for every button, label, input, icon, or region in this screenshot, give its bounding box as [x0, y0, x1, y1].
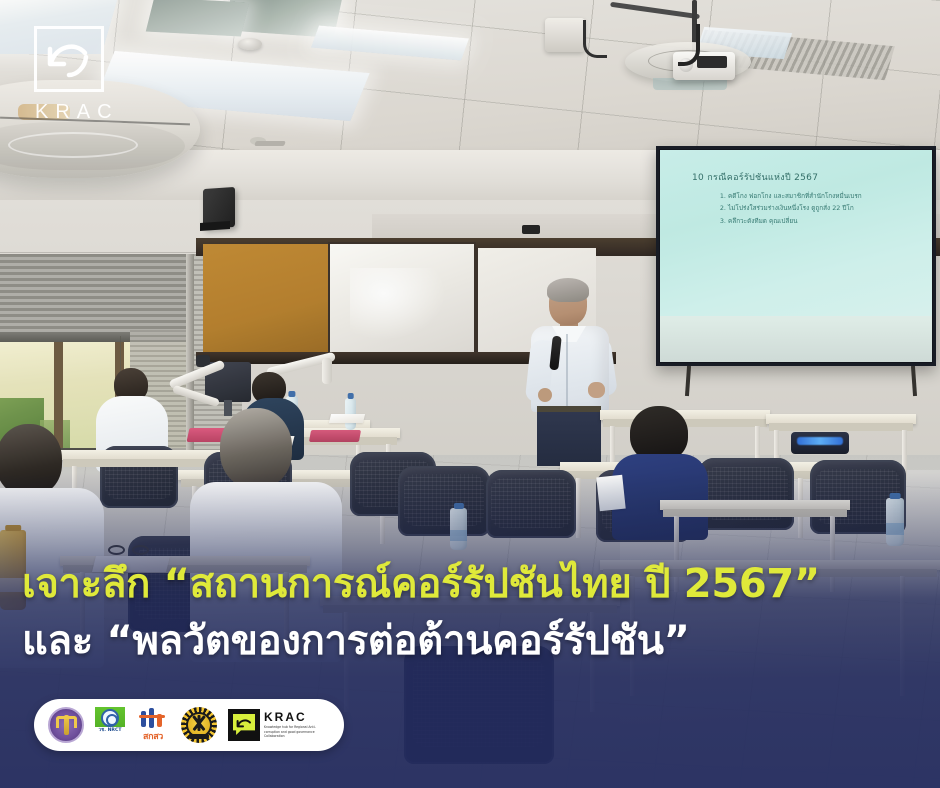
slide-bullet: ไม่โปร่งใสร่วมร่างเงินหนึ่งโรง ดูถูกสั่ง…: [728, 202, 918, 214]
slide-bullet: คดีโกง ฟอกโกง และสมาชิกที่สำนักโกงหมื่นเ…: [728, 190, 918, 202]
chair-rim: [698, 458, 794, 530]
title-line-2: และ “พลวัตของการต่อต้านคอร์รัปชัน”: [22, 613, 918, 670]
bottle-label: [450, 530, 467, 541]
partner-logo-krac: KRAC Knowledge hub for Regional Anti-cor…: [228, 709, 326, 741]
projector-cable: [583, 20, 607, 58]
krac-wordmark: KRAC: [264, 711, 326, 723]
papers: [596, 475, 625, 512]
event-cover: 10 กรณีคอร์รัปชันแห่งปี 2567 คดีโกง ฟอกโ…: [0, 0, 940, 788]
desk-leg: [576, 478, 581, 538]
gear-base: [189, 734, 209, 739]
ceiling-cylinder-fixture: [545, 18, 585, 52]
projector-cable: [678, 24, 700, 66]
water-bottle: [450, 508, 467, 550]
ceiling-light-panel: [146, 0, 249, 36]
blue-electronic-device: [791, 432, 849, 454]
amber-wall-panel: [203, 244, 328, 354]
bottle-cap: [347, 393, 354, 399]
water-bottle: [886, 498, 904, 546]
chair: [486, 470, 576, 538]
krac-text-block: KRAC Knowledge hub for Regional Anti-cor…: [264, 711, 326, 739]
title-line-1: เจาะลึก “สถานการณ์คอร์รัปชันไทย ปี 2567”: [22, 556, 918, 613]
articulating-arm: [322, 358, 332, 384]
krac-logo-icon: KRAC Knowledge hub for Regional Anti-cor…: [228, 709, 326, 741]
bottle-label: [886, 523, 904, 535]
person-torso: [612, 454, 708, 540]
pink-desk-pad: [309, 430, 361, 442]
tsri-bar: [141, 711, 146, 727]
partner-logo-gear: [181, 707, 217, 743]
presenter-hand: [538, 388, 552, 402]
partner-logo-purple-seal: [48, 707, 84, 743]
partner-logo-tsri: สกสว: [136, 708, 170, 743]
smoke-detector-icon: [238, 38, 262, 50]
chair-rim: [486, 470, 576, 538]
bottle-cap: [288, 391, 295, 397]
slide-heading: 10 กรณีคอร์รัปชันแห่งปี 2567: [692, 170, 902, 184]
ceiling-fan-ring: [8, 132, 138, 158]
desk-apron: [663, 509, 847, 517]
chair: [698, 458, 794, 530]
green-logo-label: วช. NRCT: [99, 728, 122, 733]
presenter-legs: [537, 408, 601, 466]
ceiling-strip: [254, 141, 286, 146]
bottle-cap: [5, 525, 21, 531]
krac-watermark: KRAC: [34, 26, 134, 124]
green-institute-logo-icon: วช. NRCT: [95, 707, 125, 743]
chair: [398, 466, 490, 536]
gear-emblem-icon: [181, 707, 217, 743]
partner-logo-strip: วช. NRCT สกสว: [34, 699, 344, 751]
projection-screen-lower: [660, 316, 932, 362]
person-head: [220, 408, 292, 488]
desk-apron: [769, 423, 913, 431]
monitor-stand: [224, 400, 232, 416]
purple-university-seal-icon: [48, 707, 84, 743]
krac-arrow-glyph: [45, 37, 93, 81]
presenter-hand: [588, 382, 605, 398]
eyeglasses-icon: [108, 545, 152, 555]
tsri-mark: [139, 708, 167, 728]
slide-bullet-list: คดีโกง ฟอกโกง และสมาชิกที่สำนักโกงหมื่นเ…: [718, 190, 918, 227]
projector-panel: [697, 56, 727, 68]
title-block: เจาะลึก “สถานการณ์คอร์รัปชันไทย ปี 2567”…: [0, 556, 940, 670]
tsri-label: สกสว: [143, 729, 163, 743]
krac-arrow-glyph: [236, 717, 252, 731]
whiteboard-glare: [350, 268, 446, 340]
wall-camera-icon: [522, 225, 540, 234]
tsri-crossbar: [139, 715, 165, 718]
device-led-strip: [797, 437, 843, 445]
green-logo-ring: [101, 709, 119, 727]
bottle-cap: [890, 493, 901, 499]
krac-square-arrow-icon: [34, 26, 104, 92]
krac-speech-bubble-icon: [228, 709, 260, 741]
partner-logo-green-institute: วช. NRCT: [95, 707, 125, 743]
presenter-belt: [537, 406, 601, 412]
tsri-logo-icon: สกสว: [136, 708, 170, 743]
krac-subtitle: Knowledge hub for Regional Anti-corrupti…: [264, 725, 326, 739]
papers: [329, 414, 365, 423]
slide-bullet: คลึกวะดังทีมด คุณเปลี่ยน: [728, 215, 918, 227]
presenter-shirt-placket: [566, 334, 568, 406]
bottle-cap: [453, 503, 463, 509]
seminar-photo: 10 กรณีคอร์รัปชันแห่งปี 2567 คดีโกง ฟอกโ…: [0, 0, 940, 788]
presenter-hair: [547, 278, 589, 302]
krac-wordmark: KRAC: [35, 101, 134, 124]
person-head: [0, 424, 62, 496]
chair-rim: [398, 466, 490, 536]
window-blinds: [0, 254, 194, 340]
